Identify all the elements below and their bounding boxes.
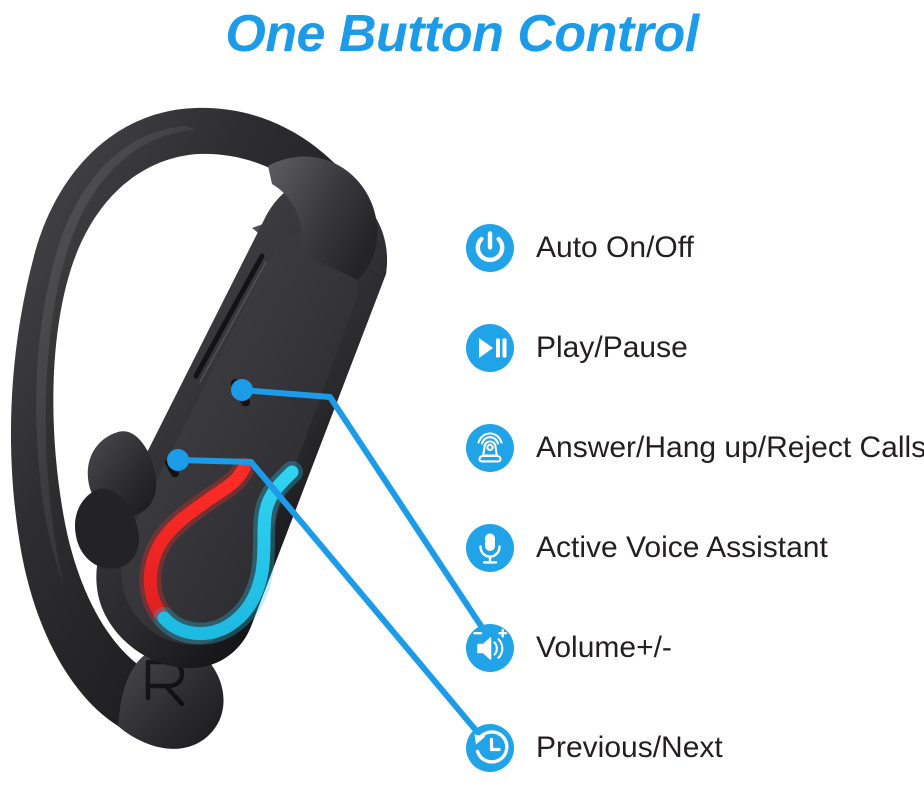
feature-label-play-pause: Play/Pause — [536, 333, 688, 363]
feature-row-volume: Volume+/- — [466, 620, 672, 676]
feature-row-voice-assistant: Active Voice Assistant — [466, 520, 828, 576]
product-image — [0, 86, 470, 786]
feature-label-voice-assistant: Active Voice Assistant — [536, 533, 828, 563]
power-icon — [466, 224, 514, 272]
telephone-icon — [466, 424, 514, 472]
feature-label-auto-on-off: Auto On/Off — [536, 233, 694, 263]
volume-icon — [466, 624, 514, 672]
page-title: One Button Control — [0, 4, 924, 64]
infographic-page: One Button Control — [0, 0, 924, 786]
rewind-clock-icon — [466, 724, 514, 772]
feature-row-answer-calls: Answer/Hang up/Reject Calls — [466, 420, 924, 476]
feature-row-previous-next: Previous/Next — [466, 720, 723, 776]
play-pause-icon — [466, 324, 514, 372]
feature-label-volume: Volume+/- — [536, 633, 672, 663]
microphone-icon — [466, 524, 514, 572]
feature-label-previous-next: Previous/Next — [536, 733, 723, 763]
feature-row-auto-on-off: Auto On/Off — [466, 220, 694, 276]
feature-label-answer-calls: Answer/Hang up/Reject Calls — [536, 433, 924, 463]
feature-row-play-pause: Play/Pause — [466, 320, 688, 376]
